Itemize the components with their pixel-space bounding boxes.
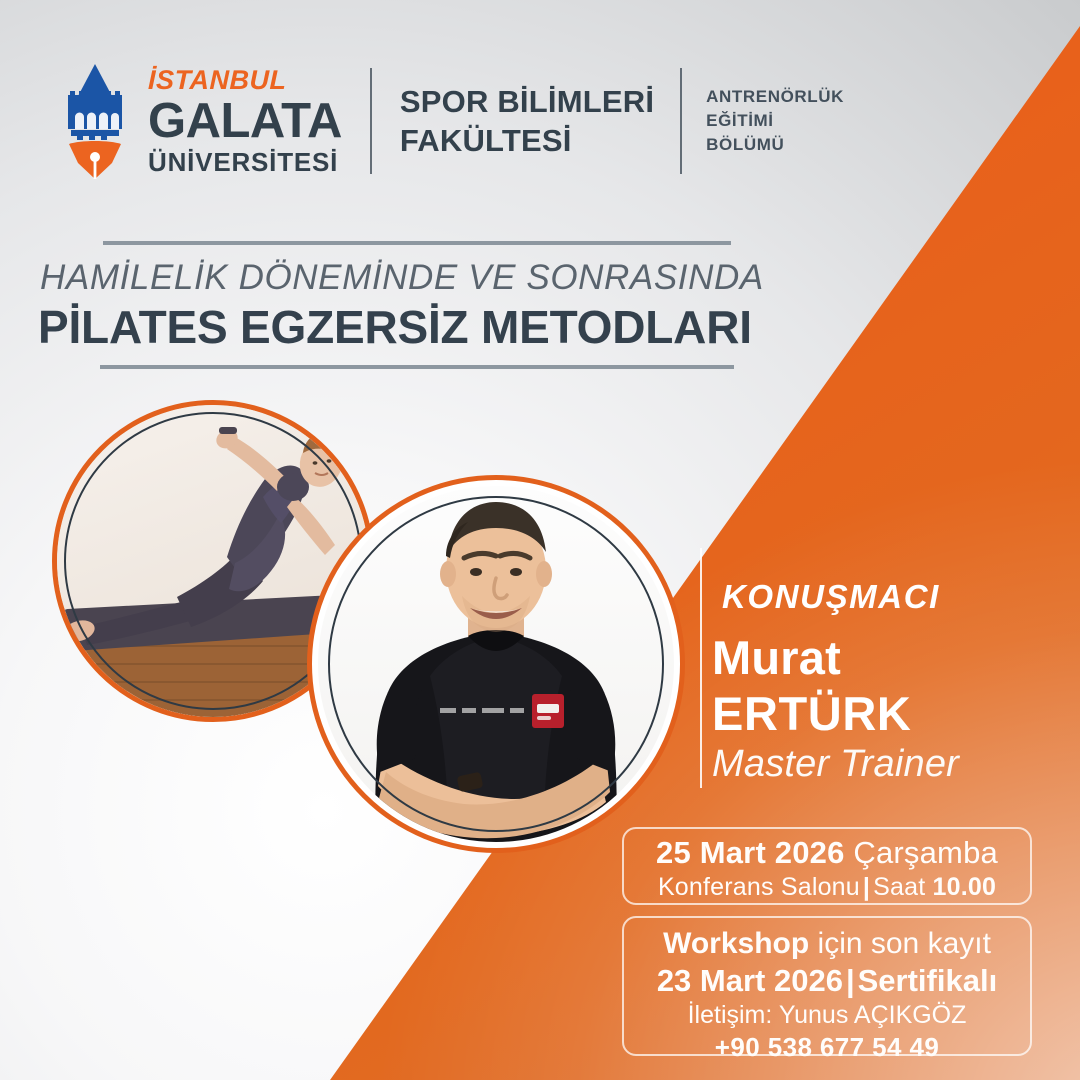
event-date-strong: 25 Mart 2026 (656, 835, 845, 870)
registration-workshop-strong: Workshop (663, 927, 809, 960)
speaker-first-name: Murat (712, 630, 841, 685)
registration-deadline-label: Workshop için son kayıt (624, 926, 1030, 962)
registration-separator: | (843, 963, 858, 998)
page-title: PİLATES EGZERSİZ METODLARI (38, 300, 752, 354)
title-rule-bottom (100, 365, 734, 369)
logo-line-istanbul: İSTANBUL (148, 67, 342, 94)
faculty-line-1: SPOR BİLİMLERİ (400, 82, 654, 121)
registration-box: Workshop için son kayıt 23 Mart 2026|Ser… (622, 916, 1032, 1056)
department-line-1: ANTRENÖRLÜK (706, 85, 844, 109)
event-date-line: 25 Mart 2026 Çarşamba (624, 835, 1030, 872)
event-date-day: Çarşamba (845, 835, 998, 870)
department-name: ANTRENÖRLÜK EĞİTİMİ BÖLÜMÜ (706, 85, 844, 157)
event-venue-separator: | (860, 873, 873, 901)
contact-phone[interactable]: +90 538 677 54 49 (624, 1031, 1030, 1064)
title-rule-top (103, 241, 731, 245)
logo-wordmark: İSTANBUL GALATA ÜNİVERSİTESİ (148, 67, 342, 175)
department-line-2: EĞİTİMİ (706, 109, 844, 133)
galata-tower-pen-nib-icon (56, 62, 134, 180)
title-subtitle: HAMİLELİK DÖNEMİNDE VE SONRASINDA (40, 258, 764, 298)
event-date-box: 25 Mart 2026 Çarşamba Konferans Salonu|S… (622, 827, 1032, 905)
event-venue: Konferans Salonu (658, 873, 860, 901)
registration-certificate: Sertifikalı (858, 963, 998, 998)
logo-line-universitesi: ÜNİVERSİTESİ (148, 149, 342, 175)
speaker-label: KONUŞMACI (722, 578, 940, 616)
department-line-3: BÖLÜMÜ (706, 133, 844, 157)
speaker-last-name: ERTÜRK (712, 686, 911, 741)
header-divider-2 (680, 68, 682, 174)
registration-line1-rest: için son kayıt (809, 927, 991, 960)
faculty-name: SPOR BİLİMLERİ FAKÜLTESİ (400, 82, 654, 160)
faculty-line-2: FAKÜLTESİ (400, 121, 654, 160)
speaker-role: Master Trainer (712, 743, 959, 786)
poster-canvas: İSTANBUL GALATA ÜNİVERSİTESİ SPOR BİLİML… (0, 0, 1080, 1080)
contact-person: İletişim: Yunus AÇIKGÖZ (624, 1000, 1030, 1031)
header-branding: İSTANBUL GALATA ÜNİVERSİTESİ SPOR BİLİML… (56, 62, 844, 180)
registration-date-strong: 23 Mart 2026 (657, 963, 843, 998)
speaker-photo-inner-ring (328, 496, 664, 832)
event-time-value: 10.00 (932, 873, 996, 901)
registration-deadline-date: 23 Mart 2026|Sertifikalı (624, 962, 1030, 1000)
logo-line-galata: GALATA (148, 96, 342, 147)
speaker-vertical-divider (700, 548, 702, 788)
event-time-label: Saat (873, 873, 932, 901)
speaker-photo-circle (312, 480, 680, 848)
header-divider-1 (370, 68, 372, 174)
event-venue-line: Konferans Salonu|Saat 10.00 (624, 872, 1030, 902)
